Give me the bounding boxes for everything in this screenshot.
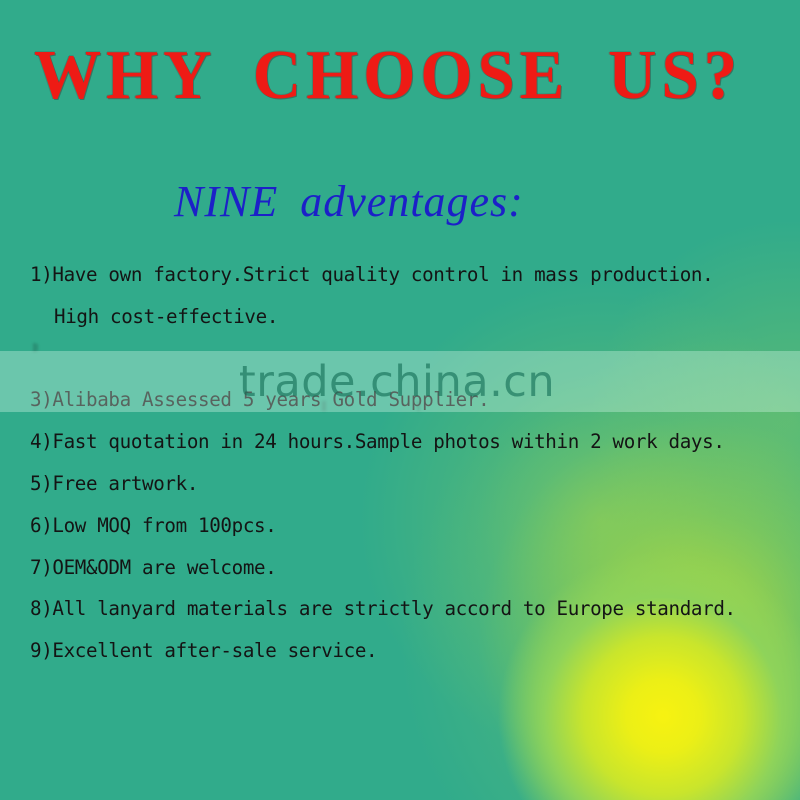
poster-content: WHY CHOOSE US? NINE adventages: 1)Have o… [0, 0, 800, 800]
list-item-text: OEM&ODM are welcome. [52, 556, 276, 579]
list-item-marker: 7) [30, 556, 52, 579]
advantages-list: 1)Have own factory.Strict quality contro… [30, 254, 792, 672]
list-item: 9)Excellent after-sale service. [30, 630, 792, 672]
list-item-marker: 4) [30, 430, 52, 453]
list-item-marker: 5) [30, 472, 52, 495]
list-item-marker: 8) [30, 597, 52, 620]
promotional-poster: WHY CHOOSE US? NINE adventages: 1)Have o… [0, 0, 800, 800]
list-item: 5)Free artwork. [30, 463, 792, 505]
list-item-text: Low MOQ from 100pcs. [52, 514, 276, 537]
list-item: 8)All lanyard materials are strictly acc… [30, 588, 792, 630]
list-item-text: All lanyard materials are strictly accor… [52, 597, 735, 620]
list-item-text: Free artwork. [52, 472, 198, 495]
list-item-marker: 6) [30, 514, 52, 537]
list-item: 4)Fast quotation in 24 hours.Sample phot… [30, 421, 792, 463]
list-item: 6)Low MOQ from 100pcs. [30, 505, 792, 547]
list-item-continuation: High cost-effective. [30, 296, 792, 338]
list-item-text: Have own factory.Strict quality control … [52, 263, 713, 286]
list-item-marker: 9) [30, 639, 52, 662]
list-item: 7)OEM&ODM are welcome. [30, 547, 792, 589]
subtitle: NINE adventages: [174, 176, 524, 228]
list-item-text: Fast quotation in 24 hours.Sample photos… [52, 430, 724, 453]
list-item-text: Excellent after-sale service. [52, 639, 377, 662]
list-item-marker: 3) [30, 388, 52, 411]
page-title: WHY CHOOSE US? [34, 38, 744, 114]
list-item: 3)Alibaba Assessed 5 years Gold Supplier… [30, 379, 792, 421]
list-item-text: Alibaba Assessed 5 years Gold Supplier. [52, 388, 489, 411]
list-item-marker: 1) [30, 263, 52, 286]
list-item: 1)Have own factory.Strict quality contro… [30, 254, 792, 338]
